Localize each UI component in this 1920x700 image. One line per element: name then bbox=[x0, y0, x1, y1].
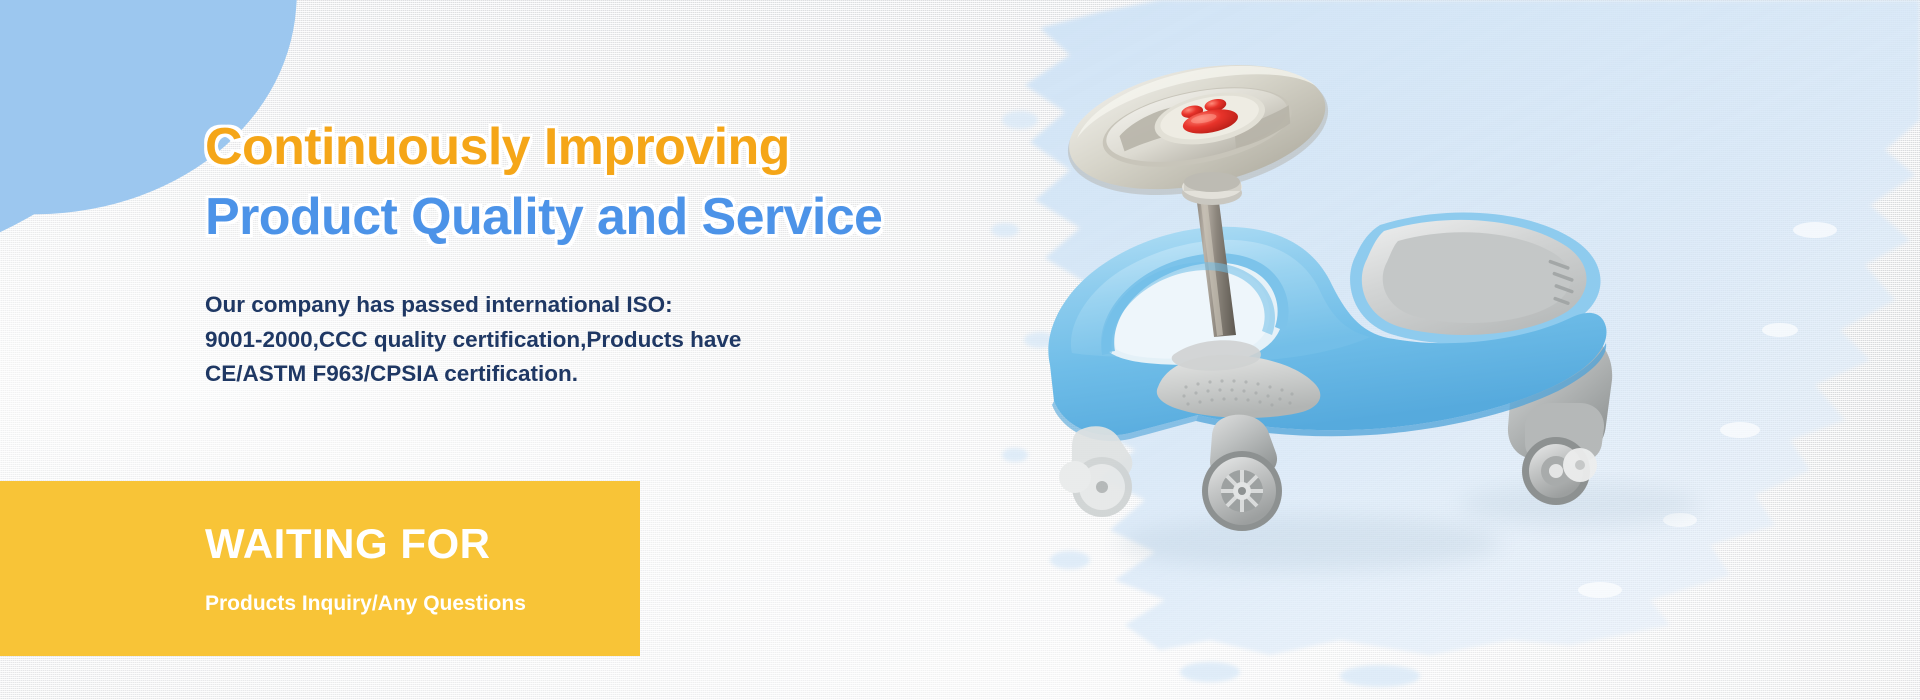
cta-title: WAITING FOR bbox=[205, 523, 640, 565]
front-wheel-assembly bbox=[1059, 415, 1282, 531]
paragraph-line-2: 9001-2000,CCC quality certification,Prod… bbox=[205, 323, 865, 357]
steering-column-collar bbox=[1182, 172, 1242, 205]
product-image-swing-car bbox=[980, 35, 1780, 650]
headline-line-1: Continuously Improving bbox=[205, 118, 925, 176]
cta-panel[interactable]: WAITING FOR Products Inquiry/Any Questio… bbox=[0, 481, 640, 656]
banner-copy: Continuously Improving Product Quality a… bbox=[205, 118, 925, 391]
promotional-banner: Continuously Improving Product Quality a… bbox=[0, 0, 1920, 700]
paragraph-line-1: Our company has passed international ISO… bbox=[205, 288, 865, 322]
certification-paragraph: Our company has passed international ISO… bbox=[205, 288, 865, 391]
cta-subtitle: Products Inquiry/Any Questions bbox=[205, 593, 640, 614]
paragraph-line-3: CE/ASTM F963/CPSIA certification. bbox=[205, 357, 865, 391]
headline-line-2: Product Quality and Service bbox=[205, 188, 925, 246]
